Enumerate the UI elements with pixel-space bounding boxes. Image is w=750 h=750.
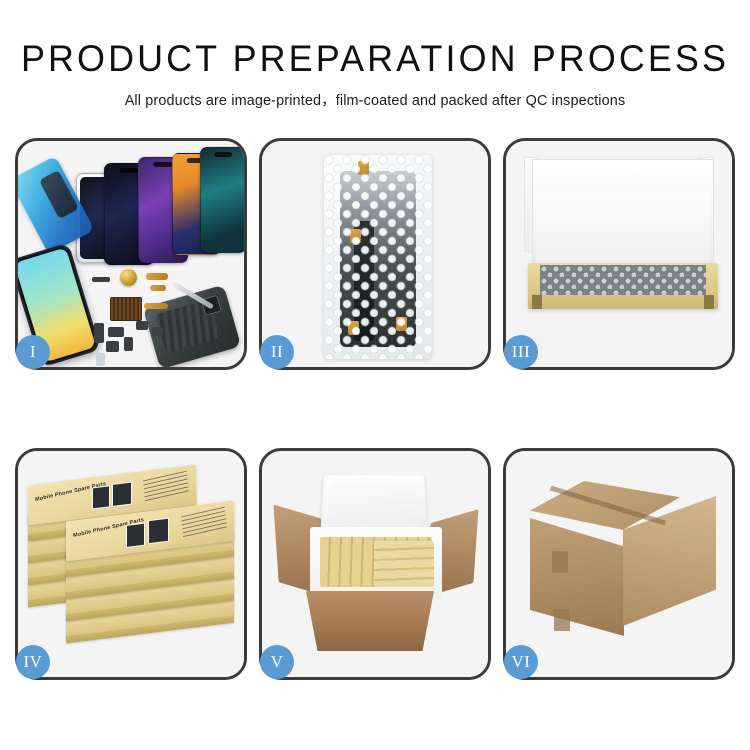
flex-cable-icon xyxy=(144,303,168,309)
process-step-grid: I II xyxy=(15,138,735,680)
step-badge-1: I xyxy=(16,335,50,369)
process-step-card-6[interactable]: VI xyxy=(503,448,735,680)
step-badge-6: VI xyxy=(504,645,538,679)
carton-left-panel xyxy=(530,518,624,636)
open-shipping-carton-illustration xyxy=(262,451,488,677)
spare-parts-flatlay-illustration xyxy=(18,141,244,367)
bubble-wrapped-screen-illustration xyxy=(262,141,488,367)
label-product-image xyxy=(112,482,132,507)
step-badge-3: III xyxy=(504,335,538,369)
bubble-wrap-bag xyxy=(324,155,432,359)
bubble-wrapped-units xyxy=(540,265,706,295)
foam-lined-inner-box-illustration xyxy=(506,141,732,367)
page-title: PRODUCT PREPARATION PROCESS xyxy=(11,0,739,79)
phone-notch-icon xyxy=(153,162,172,167)
step-badge-5: V xyxy=(260,645,294,679)
foam-padding xyxy=(536,191,710,267)
antenna-strip-icon xyxy=(92,277,110,282)
label-product-image xyxy=(148,518,169,545)
sim-tray-icon xyxy=(96,353,105,366)
step-6-image xyxy=(506,451,732,677)
phone-notch-icon xyxy=(214,152,232,157)
carton-tape-patch xyxy=(554,609,570,631)
sealed-carton xyxy=(530,481,716,649)
phone-notch-icon xyxy=(119,168,138,173)
step-badge-2: II xyxy=(260,335,294,369)
speaker-module-icon xyxy=(120,269,137,286)
phone-teal xyxy=(200,147,244,253)
process-step-card-3[interactable]: III xyxy=(503,138,735,370)
vibrator-part-icon xyxy=(124,337,133,351)
ic-chip-icon xyxy=(110,297,142,321)
process-step-card-4[interactable]: Mobile Phone Spare Parts Mobile Phone Sp… xyxy=(15,448,247,680)
connector-part-icon xyxy=(94,323,104,343)
label-product-image xyxy=(126,523,145,548)
process-step-card-5[interactable]: V xyxy=(259,448,491,680)
label-product-image xyxy=(92,485,110,509)
bracket-part-icon xyxy=(108,327,124,337)
step-3-image xyxy=(506,141,732,367)
carton-tape-patch xyxy=(552,551,568,573)
phone-lineup xyxy=(76,153,236,271)
label-spec-lines xyxy=(181,507,227,539)
packed-kraft-boxes-secondary xyxy=(374,541,434,587)
page-header: PRODUCT PREPARATION PROCESS All products… xyxy=(0,0,750,110)
process-step-card-2[interactable]: II xyxy=(259,138,491,370)
small-components-group xyxy=(92,267,218,365)
step-1-image xyxy=(18,141,244,367)
label-spec-lines xyxy=(143,471,189,503)
step-5-image xyxy=(262,451,488,677)
carton-front-panel xyxy=(306,591,434,651)
step-4-image: Mobile Phone Spare Parts Mobile Phone Sp… xyxy=(18,451,244,677)
tweezers-icon xyxy=(172,282,214,310)
box-corner-notch xyxy=(532,295,542,309)
sealed-shipping-carton-illustration xyxy=(506,451,732,677)
step-2-image xyxy=(262,141,488,367)
flex-cable-icon xyxy=(146,273,168,280)
stacked-inner-boxes-illustration: Mobile Phone Spare Parts Mobile Phone Sp… xyxy=(18,451,244,677)
screw-set-icon xyxy=(152,327,163,336)
box-stack: Mobile Phone Spare Parts Mobile Phone Sp… xyxy=(26,475,240,665)
page-subtitle: All products are image-printed，film-coat… xyxy=(0,79,750,110)
bubble-texture xyxy=(324,155,432,359)
camera-module-icon xyxy=(106,341,119,352)
step-badge-4: IV xyxy=(16,645,50,679)
button-part-icon xyxy=(136,321,148,330)
flex-cable-icon xyxy=(150,285,166,291)
box-corner-notch xyxy=(704,295,714,309)
process-step-card-1[interactable]: I xyxy=(15,138,247,370)
